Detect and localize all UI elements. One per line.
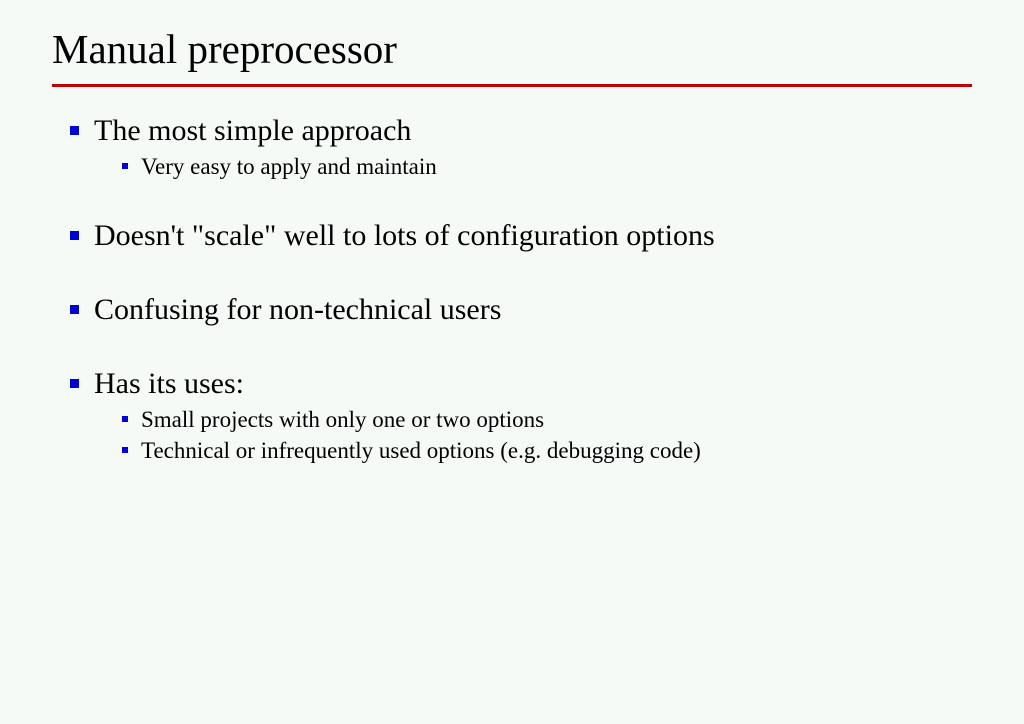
bullet-item-level1-label: The most simple approach (94, 114, 411, 147)
slide-body: The most simple approach Very easy to ap… (0, 110, 1024, 466)
bullet-item-level1-label: Confusing for non-technical users (94, 293, 501, 326)
bullet-item-level1: Doesn't "scale" well to lots of configur… (0, 215, 1024, 256)
bullet-item-level2-label: Small projects with only one or two opti… (141, 407, 544, 432)
bullet-item-level1-label: Doesn't "scale" well to lots of configur… (94, 219, 715, 252)
bullet-group: Doesn't "scale" well to lots of configur… (0, 215, 1024, 256)
bullet-item-level2: Very easy to apply and maintain (0, 151, 1024, 182)
small-square-bullet-icon (122, 447, 128, 453)
bullet-item-level2: Small projects with only one or two opti… (0, 404, 1024, 435)
square-bullet-icon (70, 126, 79, 135)
slide-title-block: Manual preprocessor (52, 24, 972, 74)
square-bullet-icon (70, 305, 79, 314)
bullet-group: Confusing for non-technical users (0, 289, 1024, 330)
bullet-item-level1: Confusing for non-technical users (0, 289, 1024, 330)
bullet-item-level1: The most simple approach (0, 110, 1024, 151)
bullet-group: Has its uses: Small projects with only o… (0, 363, 1024, 466)
bullet-item-level1: Has its uses: (0, 363, 1024, 404)
bullet-group: The most simple approach Very easy to ap… (0, 110, 1024, 182)
small-square-bullet-icon (122, 416, 128, 422)
bullet-item-level2-label: Very easy to apply and maintain (141, 154, 437, 179)
square-bullet-icon (70, 231, 79, 240)
square-bullet-icon (70, 379, 79, 388)
bullet-item-level2: Technical or infrequently used options (… (0, 435, 1021, 466)
bullet-item-level1-label: Has its uses: (94, 367, 244, 400)
small-square-bullet-icon (122, 163, 128, 169)
slide-canvas: Manual preprocessor The most simple appr… (0, 0, 1024, 724)
bullet-item-level2-label: Technical or infrequently used options (… (141, 438, 701, 463)
page-title: Manual preprocessor (52, 24, 972, 74)
title-divider-rule (52, 84, 972, 87)
